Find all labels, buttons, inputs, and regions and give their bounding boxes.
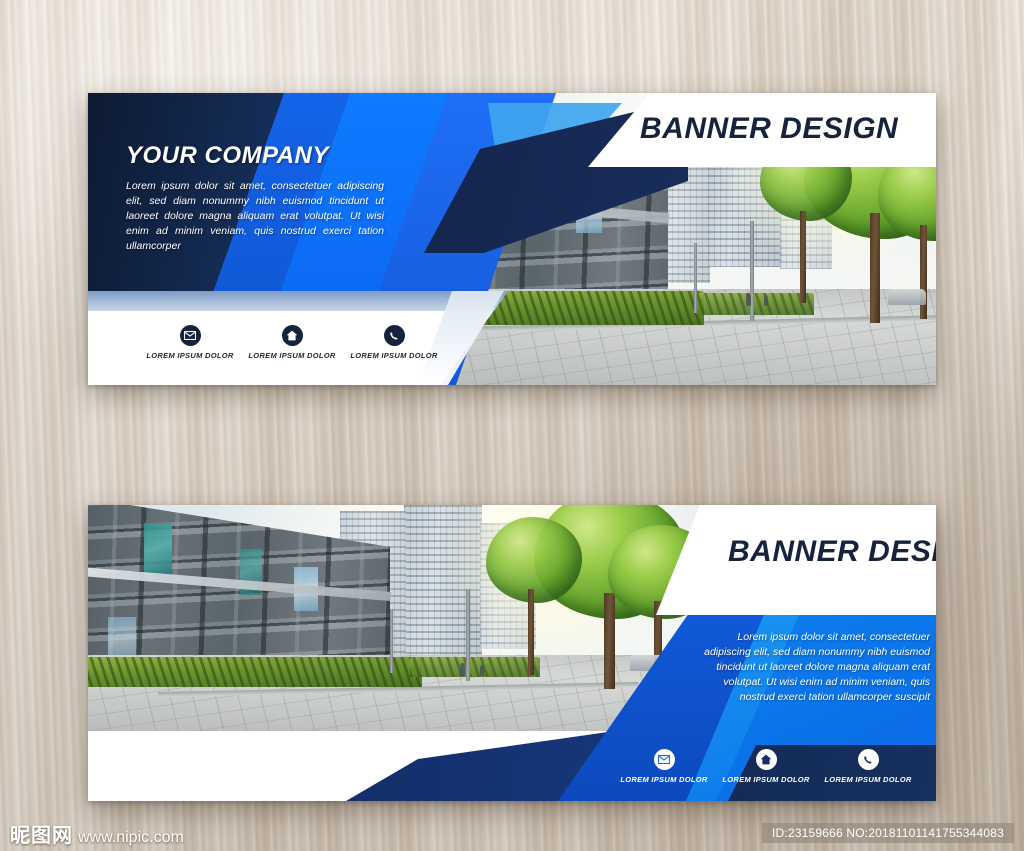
photo-hedge (88, 657, 422, 687)
photo-tree-trunk (604, 593, 615, 689)
phone-icon[interactable] (384, 325, 405, 346)
photo-hedge (694, 293, 814, 315)
photo-pedestrian (764, 295, 768, 306)
photo-tree-canopy (486, 517, 582, 603)
site-logo: 昵图网 (10, 819, 73, 848)
contact-label: LOREM IPSUM DOLOR (326, 351, 462, 360)
banner-bottom[interactable]: BANNER DESIGN Lorem ipsum dolor sit amet… (88, 505, 936, 801)
company-title: YOUR COMPANY (126, 142, 329, 170)
photo-lamp-post (390, 609, 393, 673)
phone-icon[interactable] (858, 749, 879, 770)
photo-pedestrian (746, 293, 751, 306)
envelope-icon[interactable] (654, 749, 675, 770)
photo-car (888, 289, 926, 305)
photo-hedge (410, 657, 540, 677)
photo-tree-trunk (528, 589, 534, 675)
banner-bottom-photo (88, 505, 724, 733)
contact-item-phone[interactable]: LOREM IPSUM DOLOR (800, 749, 936, 784)
photo-tower (404, 505, 482, 655)
contact-label: LOREM IPSUM DOLOR (800, 775, 936, 784)
contact-item-phone[interactable]: LOREM IPSUM DOLOR (326, 325, 462, 360)
footer-watermark-bar: 昵图网 www.nipic.com ID:23159666 NO:2018110… (0, 815, 1024, 851)
image-id-badge: ID:23159666 NO:20181101141755344083 (762, 823, 1014, 843)
banner-bottom-heading: BANNER DESIGN (728, 535, 936, 569)
banner-top-contact-strip-divider (88, 291, 508, 311)
banner-bottom-body-text: Lorem ipsum dolor sit amet, consectetuer… (688, 630, 930, 705)
site-watermark: 昵图网 www.nipic.com (10, 819, 184, 848)
photo-lamp-post (694, 243, 697, 313)
photo-lamp-post (466, 589, 470, 681)
banner-top[interactable]: YOUR COMPANY Lorem ipsum dolor sit amet,… (88, 93, 936, 385)
home-icon[interactable] (756, 749, 777, 770)
company-body-text: Lorem ipsum dolor sit amet, consectetuer… (126, 179, 384, 254)
photo-tree-trunk (800, 211, 806, 303)
home-icon[interactable] (282, 325, 303, 346)
photo-lamp-post (750, 221, 754, 321)
photo-pedestrian (460, 663, 465, 676)
photo-pedestrian (480, 665, 484, 676)
photo-tree-trunk (870, 213, 880, 323)
banner-top-heading: BANNER DESIGN (640, 112, 898, 146)
site-url: www.nipic.com (78, 829, 184, 847)
envelope-icon[interactable] (180, 325, 201, 346)
photo-teal-glass (144, 523, 172, 579)
